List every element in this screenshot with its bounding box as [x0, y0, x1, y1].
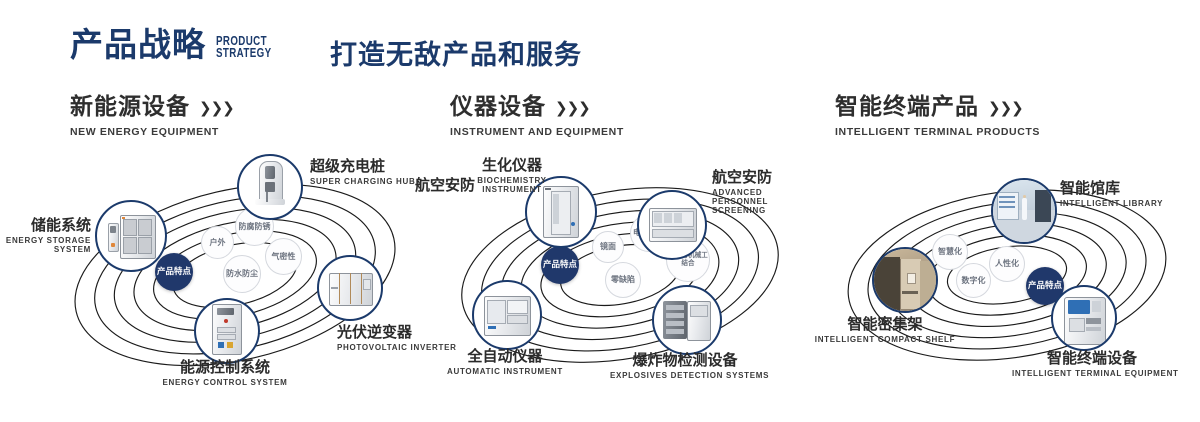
detection-rack-icon: [654, 287, 720, 353]
feature-bubble-label: 人性化: [995, 259, 1019, 268]
feature-bubble: 户外: [201, 226, 234, 259]
feature-bubble-label: 防腐防锈: [239, 222, 271, 231]
control-cabinet-icon: [196, 300, 258, 362]
cluster-intelligent-terminal: 产品特点 智慧化 人性化 数字化 智能馆库 INTELL: [822, 155, 1200, 390]
node-label-intelligent-library: 智能馆库 INTELLIGENT LIBRARY: [1060, 181, 1163, 208]
section-heading-intelligent-terminal: 智能终端产品 ❯❯❯ INTELLIGENT TERMINAL PRODUCTS: [835, 96, 1040, 138]
node-label-energy-storage: 储能系统 ENERGY STORAGE SYSTEM: [0, 218, 91, 254]
battery-cabinet-icon: [97, 202, 165, 270]
section-heading-en: INSTRUMENT AND EQUIPMENT: [450, 126, 624, 138]
node-label-energy-control-system: 能源控制系统 ENERGY CONTROL SYSTEM: [140, 360, 310, 387]
section-heading-cn: 新能源设备: [70, 96, 190, 119]
cluster-instrument: 产品特点 镜面 电解抛光 钣金与机械工结合 零缺陷 航空安防: [440, 150, 800, 390]
node-intelligent-terminal-equipment[interactable]: [1051, 285, 1117, 351]
node-label-intelligent-terminal-equipment: 智能终端设备 INTELLIGENT TERMINAL EQUIPMENT: [1012, 351, 1172, 378]
feature-bubble-label: 数字化: [962, 276, 986, 285]
node-photovoltaic-inverter[interactable]: [317, 255, 383, 321]
inverter-cabinet-icon: [319, 257, 381, 319]
section-heading-en: NEW ENERGY EQUIPMENT: [70, 126, 234, 138]
feature-bubble-label: 镜面: [600, 242, 616, 251]
feature-bubble-label: 零缺陷: [611, 275, 635, 284]
core-bubble: 产品特点: [541, 246, 579, 284]
feature-bubble-label: 智慧化: [938, 247, 962, 256]
library-room-icon: [993, 180, 1055, 242]
node-super-charging-hub[interactable]: [237, 154, 303, 220]
feature-bubble: 镜面: [592, 231, 624, 263]
feature-bubble-label: 户外: [210, 238, 226, 247]
section-heading-instrument: 仪器设备 ❯❯❯ INSTRUMENT AND EQUIPMENT: [450, 96, 624, 138]
node-advanced-personnel-screening[interactable]: [637, 190, 707, 260]
node-intelligent-compact-shelf[interactable]: [872, 247, 938, 313]
chevron-right-icon: ❯❯❯: [555, 99, 590, 117]
node-label-advanced-personnel-screening: 航空安防 ADVANCED PERSONNEL SCREENING: [712, 170, 798, 215]
node-label-biochemistry-instrument: 生化仪器 BIOCHEMISTRY INSTRUMENT: [448, 158, 576, 194]
feature-bubble: 防水防尘: [223, 255, 261, 293]
page-title: 产品战略 PRODUCT STRATEGY: [70, 28, 287, 61]
node-label-intelligent-compact-shelf: 智能密集架 INTELLIGENT COMPACT SHELF: [814, 317, 956, 344]
core-bubble-label: 产品特点: [543, 260, 577, 270]
section-heading-cn: 智能终端产品: [835, 96, 979, 119]
section-heading-new-energy: 新能源设备 ❯❯❯ NEW ENERGY EQUIPMENT: [70, 96, 234, 138]
section-heading-cn: 仪器设备: [450, 96, 546, 119]
auto-analyzer-icon: [474, 282, 540, 348]
cluster-new-energy: 产品特点 户外 防腐防锈 气密性 防水防尘: [55, 150, 415, 390]
node-label-automatic-instrument: 全自动仪器 AUTOMATIC INSTRUMENT: [435, 349, 575, 376]
node-intelligent-library[interactable]: [991, 178, 1057, 244]
page-title-en-line2: STRATEGY: [216, 46, 271, 60]
feature-bubble: 气密性: [265, 238, 302, 275]
node-energy-control-system[interactable]: [194, 298, 260, 364]
compact-shelf-icon: [874, 249, 936, 311]
node-label-photovoltaic-inverter: 光伏逆变器 PHOTOVOLTAIC INVERTER: [337, 325, 457, 352]
node-label-explosives-detection: 爆炸物检测设备 EXPLOSIVES DETECTION SYSTEMS: [610, 353, 760, 380]
page-title-cn: 产品战略: [70, 28, 206, 61]
kiosk-terminal-icon: [1053, 287, 1115, 349]
feature-bubble: 人性化: [989, 246, 1025, 282]
feature-bubble: 智慧化: [932, 234, 968, 270]
feature-bubble-label: 气密性: [272, 252, 296, 261]
page-subtitle: 打造无敌产品和服务: [330, 33, 582, 72]
feature-bubble: 零缺陷: [605, 262, 641, 298]
node-automatic-instrument[interactable]: [472, 280, 542, 350]
node-energy-storage[interactable]: [95, 200, 167, 272]
charging-pile-icon: [239, 156, 301, 218]
chevron-right-icon: ❯❯❯: [988, 99, 1023, 117]
chevron-right-icon: ❯❯❯: [199, 99, 234, 117]
scanner-machine-icon: [639, 192, 705, 258]
node-explosives-detection[interactable]: [652, 285, 722, 355]
page-title-en: PRODUCT STRATEGY: [216, 35, 271, 59]
product-strategy-infographic: 产品战略 PRODUCT STRATEGY 打造无敌产品和服务 新能源设备 ❯❯…: [0, 0, 1200, 422]
section-heading-en: INTELLIGENT TERMINAL PRODUCTS: [835, 126, 1040, 138]
feature-bubble: 数字化: [956, 263, 991, 298]
feature-bubble-label: 防水防尘: [226, 269, 258, 278]
